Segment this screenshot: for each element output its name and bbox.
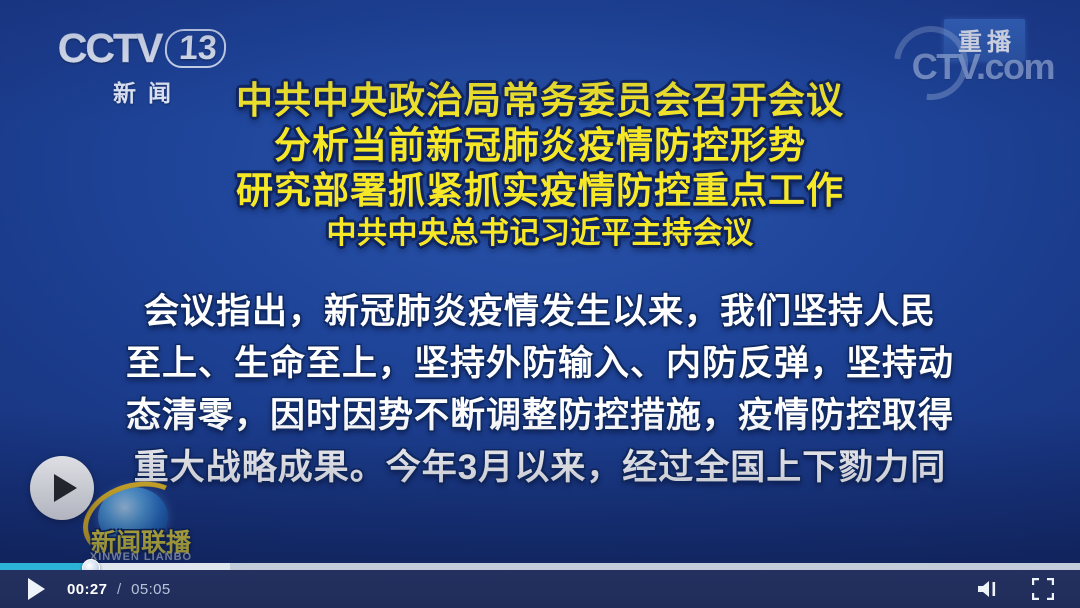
subtitle-line-3: 态清零，因时因势不断调整防控措施，疫情防控取得	[0, 390, 1080, 442]
headline-subline: 中共中央总书记习近平主持会议	[0, 213, 1080, 255]
volume-icon[interactable]	[976, 578, 1002, 600]
headline-line-3: 研究部署抓紧抓实疫情防控重点工作	[0, 168, 1080, 213]
headline-block: 中共中央政治局常务委员会召开会议 分析当前新冠肺炎疫情防控形势 研究部署抓紧抓实…	[0, 78, 1080, 255]
time-display: 00:27 / 05:05	[67, 581, 171, 598]
progress-bar[interactable]	[0, 563, 1080, 570]
play-overlay-button[interactable]	[30, 456, 94, 520]
xinwen-lianbo-station-bug: 新闻联播 XINWEN LIANBO	[80, 485, 202, 563]
subtitle-block: 会议指出，新冠肺炎疫情发生以来，我们坚持人民 至上、生命至上，坚持外防输入、内防…	[0, 286, 1080, 494]
cctv-logo-row: CCTV 13	[62, 28, 222, 69]
play-icon	[54, 474, 77, 502]
current-time: 00:27	[67, 581, 107, 598]
player-right-controls	[976, 578, 1054, 600]
station-bug-pinyin: XINWEN LIANBO	[80, 551, 202, 563]
progress-played	[0, 563, 90, 570]
player-control-bar: 00:27 / 05:05	[0, 570, 1080, 608]
headline-line-1: 中共中央政治局常务委员会召开会议	[0, 78, 1080, 123]
time-separator: /	[117, 581, 122, 598]
cctv-channel-number: 13	[164, 29, 227, 68]
headline-line-2: 分析当前新冠肺炎疫情防控形势	[0, 123, 1080, 168]
total-time: 05:05	[131, 581, 171, 598]
play-button[interactable]	[28, 578, 45, 600]
fullscreen-icon[interactable]	[1032, 578, 1054, 600]
video-viewport[interactable]: CCTV 13 新闻 重播 CTV.com 中共中央政治局常务委员会召开会议 分…	[0, 0, 1080, 568]
progress-buffered	[90, 563, 230, 570]
subtitle-line-2: 至上、生命至上，坚持外防输入、内防反弹，坚持动	[0, 338, 1080, 390]
video-player: CCTV 13 新闻 重播 CTV.com 中共中央政治局常务委员会召开会议 分…	[0, 0, 1080, 608]
cctv-wordmark: CCTV	[58, 28, 162, 69]
subtitle-line-1: 会议指出，新冠肺炎疫情发生以来，我们坚持人民	[0, 286, 1080, 338]
